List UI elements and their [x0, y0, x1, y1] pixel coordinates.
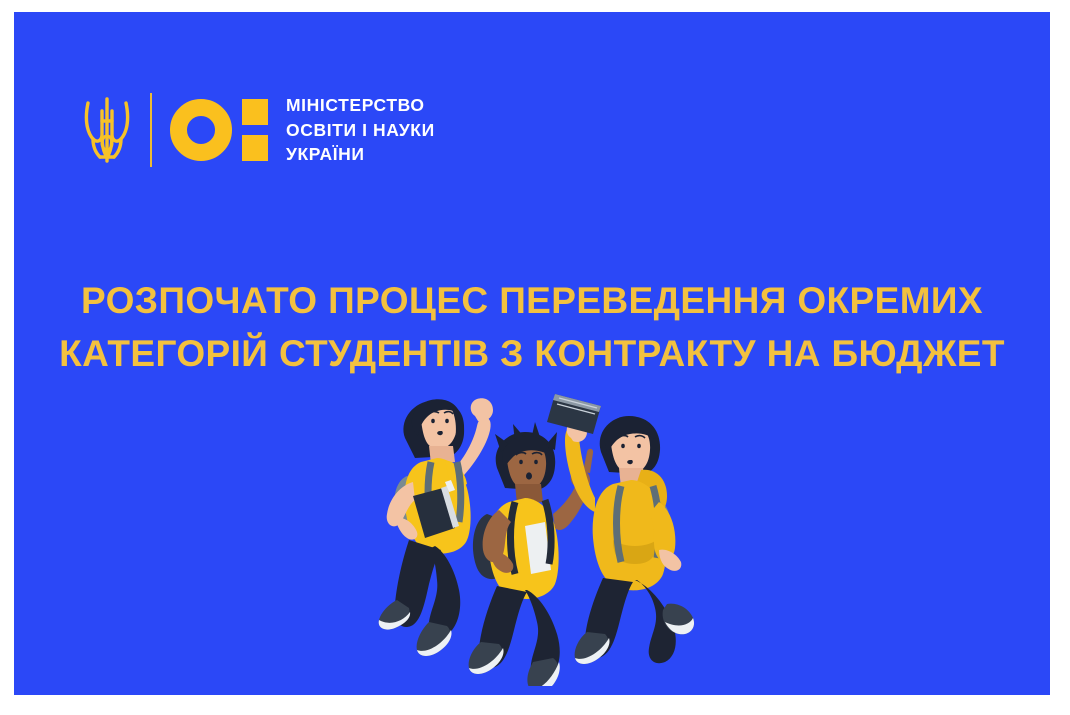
ministry-name-line-2: ОСВІТИ І НАУКИ	[286, 118, 435, 143]
ministry-logo: МІНІСТЕРСТВО ОСВІТИ І НАУКИ УКРАЇНИ	[80, 84, 435, 176]
logo-divider	[150, 93, 152, 167]
headline-line-2: КАТЕГОРІЙ СТУДЕНТІВ З КОНТРАКТУ НА БЮДЖЕ…	[14, 328, 1050, 381]
three-jumping-students-illustration	[369, 390, 709, 686]
headline-line-1: РОЗПОЧАТО ПРОЦЕС ПЕРЕВЕДЕННЯ ОКРЕМИХ	[14, 275, 1050, 328]
headline: РОЗПОЧАТО ПРОЦЕС ПЕРЕВЕДЕННЯ ОКРЕМИХ КАТ…	[14, 275, 1050, 380]
right-shoe-a	[575, 632, 610, 664]
mon-o-colon-mark	[170, 99, 268, 161]
ministry-name: МІНІСТЕРСТВО ОСВІТИ І НАУКИ УКРАЇНИ	[286, 93, 435, 168]
left-fist	[471, 398, 493, 421]
student-right-male	[547, 394, 694, 664]
ukraine-trident-icon	[80, 91, 134, 169]
middle-shoe-a	[469, 642, 504, 674]
students-illustration-svg	[369, 390, 709, 686]
o-ring-icon	[170, 99, 232, 161]
colon-square-top	[242, 99, 268, 125]
ministry-name-line-1: МІНІСТЕРСТВО	[286, 93, 435, 118]
student-left-female	[379, 398, 493, 656]
colon-square-bottom	[242, 135, 268, 161]
ministry-name-line-3: УКРАЇНИ	[286, 142, 435, 167]
left-shoe-b	[417, 622, 452, 656]
left-strap-b	[457, 462, 461, 522]
right-notebook	[547, 394, 601, 434]
announcement-banner: МІНІСТЕРСТВО ОСВІТИ І НАУКИ УКРАЇНИ РОЗП…	[14, 12, 1050, 695]
colon-squares-icon	[242, 99, 268, 161]
